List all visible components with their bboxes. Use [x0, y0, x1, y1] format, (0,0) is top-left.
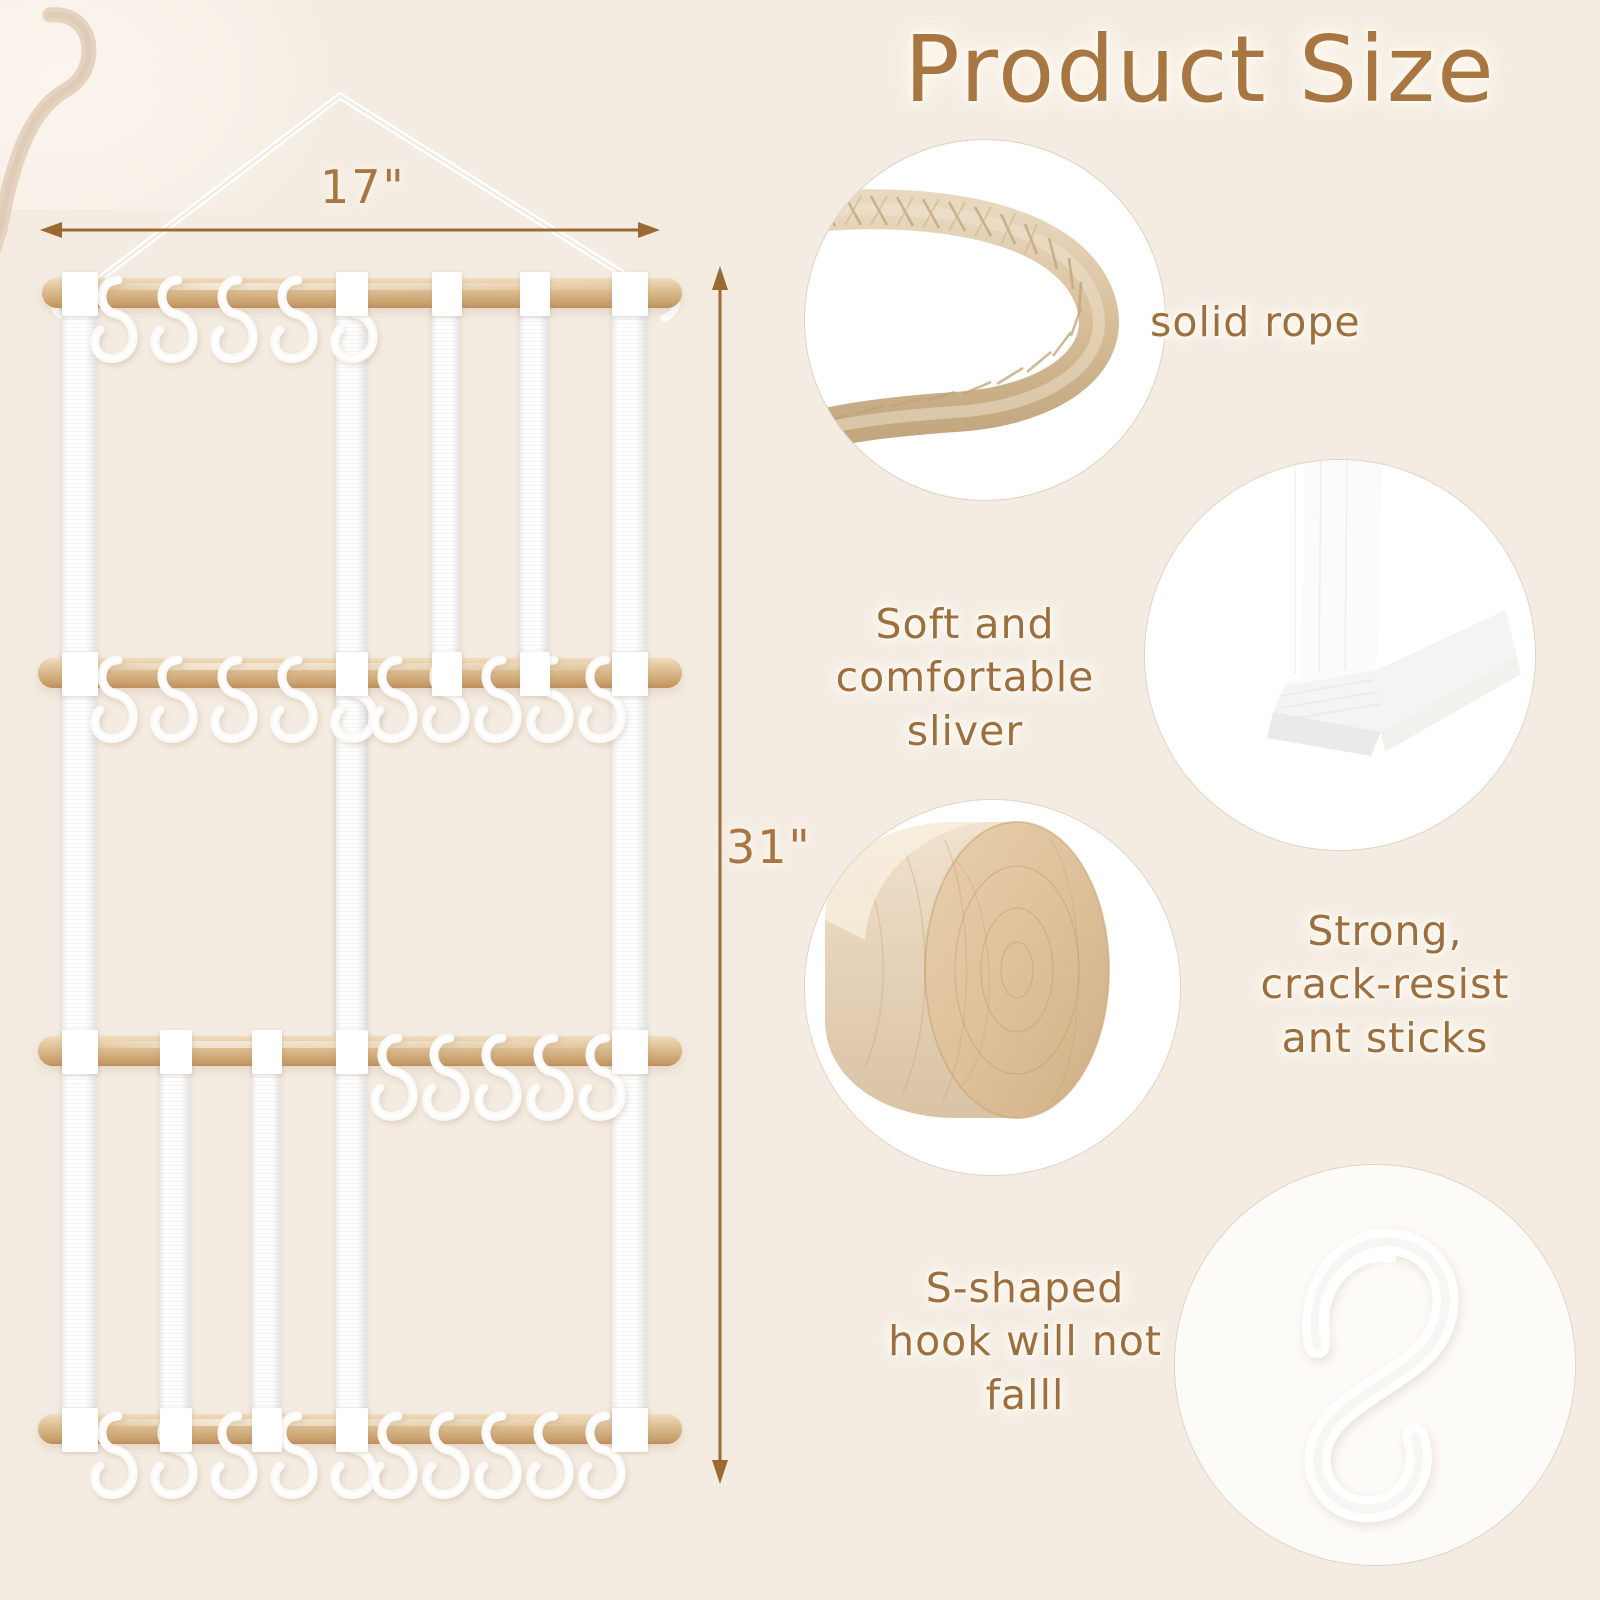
width-label: 17": [320, 160, 406, 214]
s-hook: [215, 660, 253, 738]
strap-collar: [612, 272, 648, 316]
strap-collar: [336, 652, 368, 696]
feature-caption-solid-rope: solid rope: [1150, 296, 1480, 349]
strap-collar: [62, 1030, 98, 1074]
feature-photo-solid-rope: [805, 140, 1165, 500]
s-hook: [275, 660, 313, 738]
wooden-dowel-icon: [805, 800, 1180, 1175]
strap-collar: [62, 1408, 98, 1452]
s-hook: [479, 1416, 517, 1494]
s-hook: [375, 660, 413, 738]
s-hook: [479, 1038, 517, 1116]
strap-collar: [252, 1408, 282, 1452]
strap-collar: [62, 272, 98, 316]
s-hook: [531, 1038, 569, 1116]
s-hook: [95, 280, 133, 358]
s-hook: [427, 1416, 465, 1494]
s-hook: [375, 1416, 413, 1494]
s-hook: [95, 1416, 133, 1494]
strap-collar: [252, 1030, 282, 1074]
strap-collar: [432, 272, 462, 316]
white-strap-icon: [1145, 460, 1535, 850]
strap-collar: [520, 652, 550, 696]
product-illustration: 17" 31": [0, 0, 780, 1600]
height-dimension-arrow: [690, 260, 750, 1490]
feature-caption-s-hook: S-shaped hook will not falll: [845, 1262, 1205, 1422]
feature-photo-wooden-stick: [805, 800, 1180, 1175]
s-hook: [427, 1038, 465, 1116]
feature-caption-soft-sliver: Soft and comfortable sliver: [790, 598, 1140, 758]
s-hook: [155, 660, 193, 738]
page-title: Product Size: [800, 16, 1600, 123]
height-label: 31": [726, 820, 812, 874]
braided-rope-icon: [805, 140, 1165, 500]
feature-caption-wooden-stick: Strong, crack-resist ant sticks: [1185, 905, 1585, 1065]
s-hook: [479, 660, 517, 738]
strap-collar: [160, 1030, 192, 1074]
strap-collar: [336, 1408, 368, 1452]
s-hook: [215, 1416, 253, 1494]
strap-collar: [160, 1408, 192, 1452]
infographic-canvas: Product Size: [0, 0, 1600, 1600]
strap-collar: [612, 1408, 648, 1452]
s-hook: [95, 660, 133, 738]
strap-collar: [520, 272, 550, 316]
strap-collar: [62, 652, 98, 696]
s-hook: [155, 280, 193, 358]
s-hook-icon: [1175, 1165, 1575, 1565]
feature-photo-soft-sliver: [1145, 460, 1535, 850]
s-hook: [215, 280, 253, 358]
strap-collar: [612, 652, 648, 696]
strap-collar: [336, 1030, 368, 1074]
strap-collar: [432, 652, 462, 696]
s-hook: [375, 1038, 413, 1116]
s-hook: [275, 280, 313, 358]
s-hook: [531, 1416, 569, 1494]
strap-collar: [336, 272, 368, 316]
strap-collar: [612, 1030, 648, 1074]
feature-photo-s-hook: [1175, 1165, 1575, 1565]
